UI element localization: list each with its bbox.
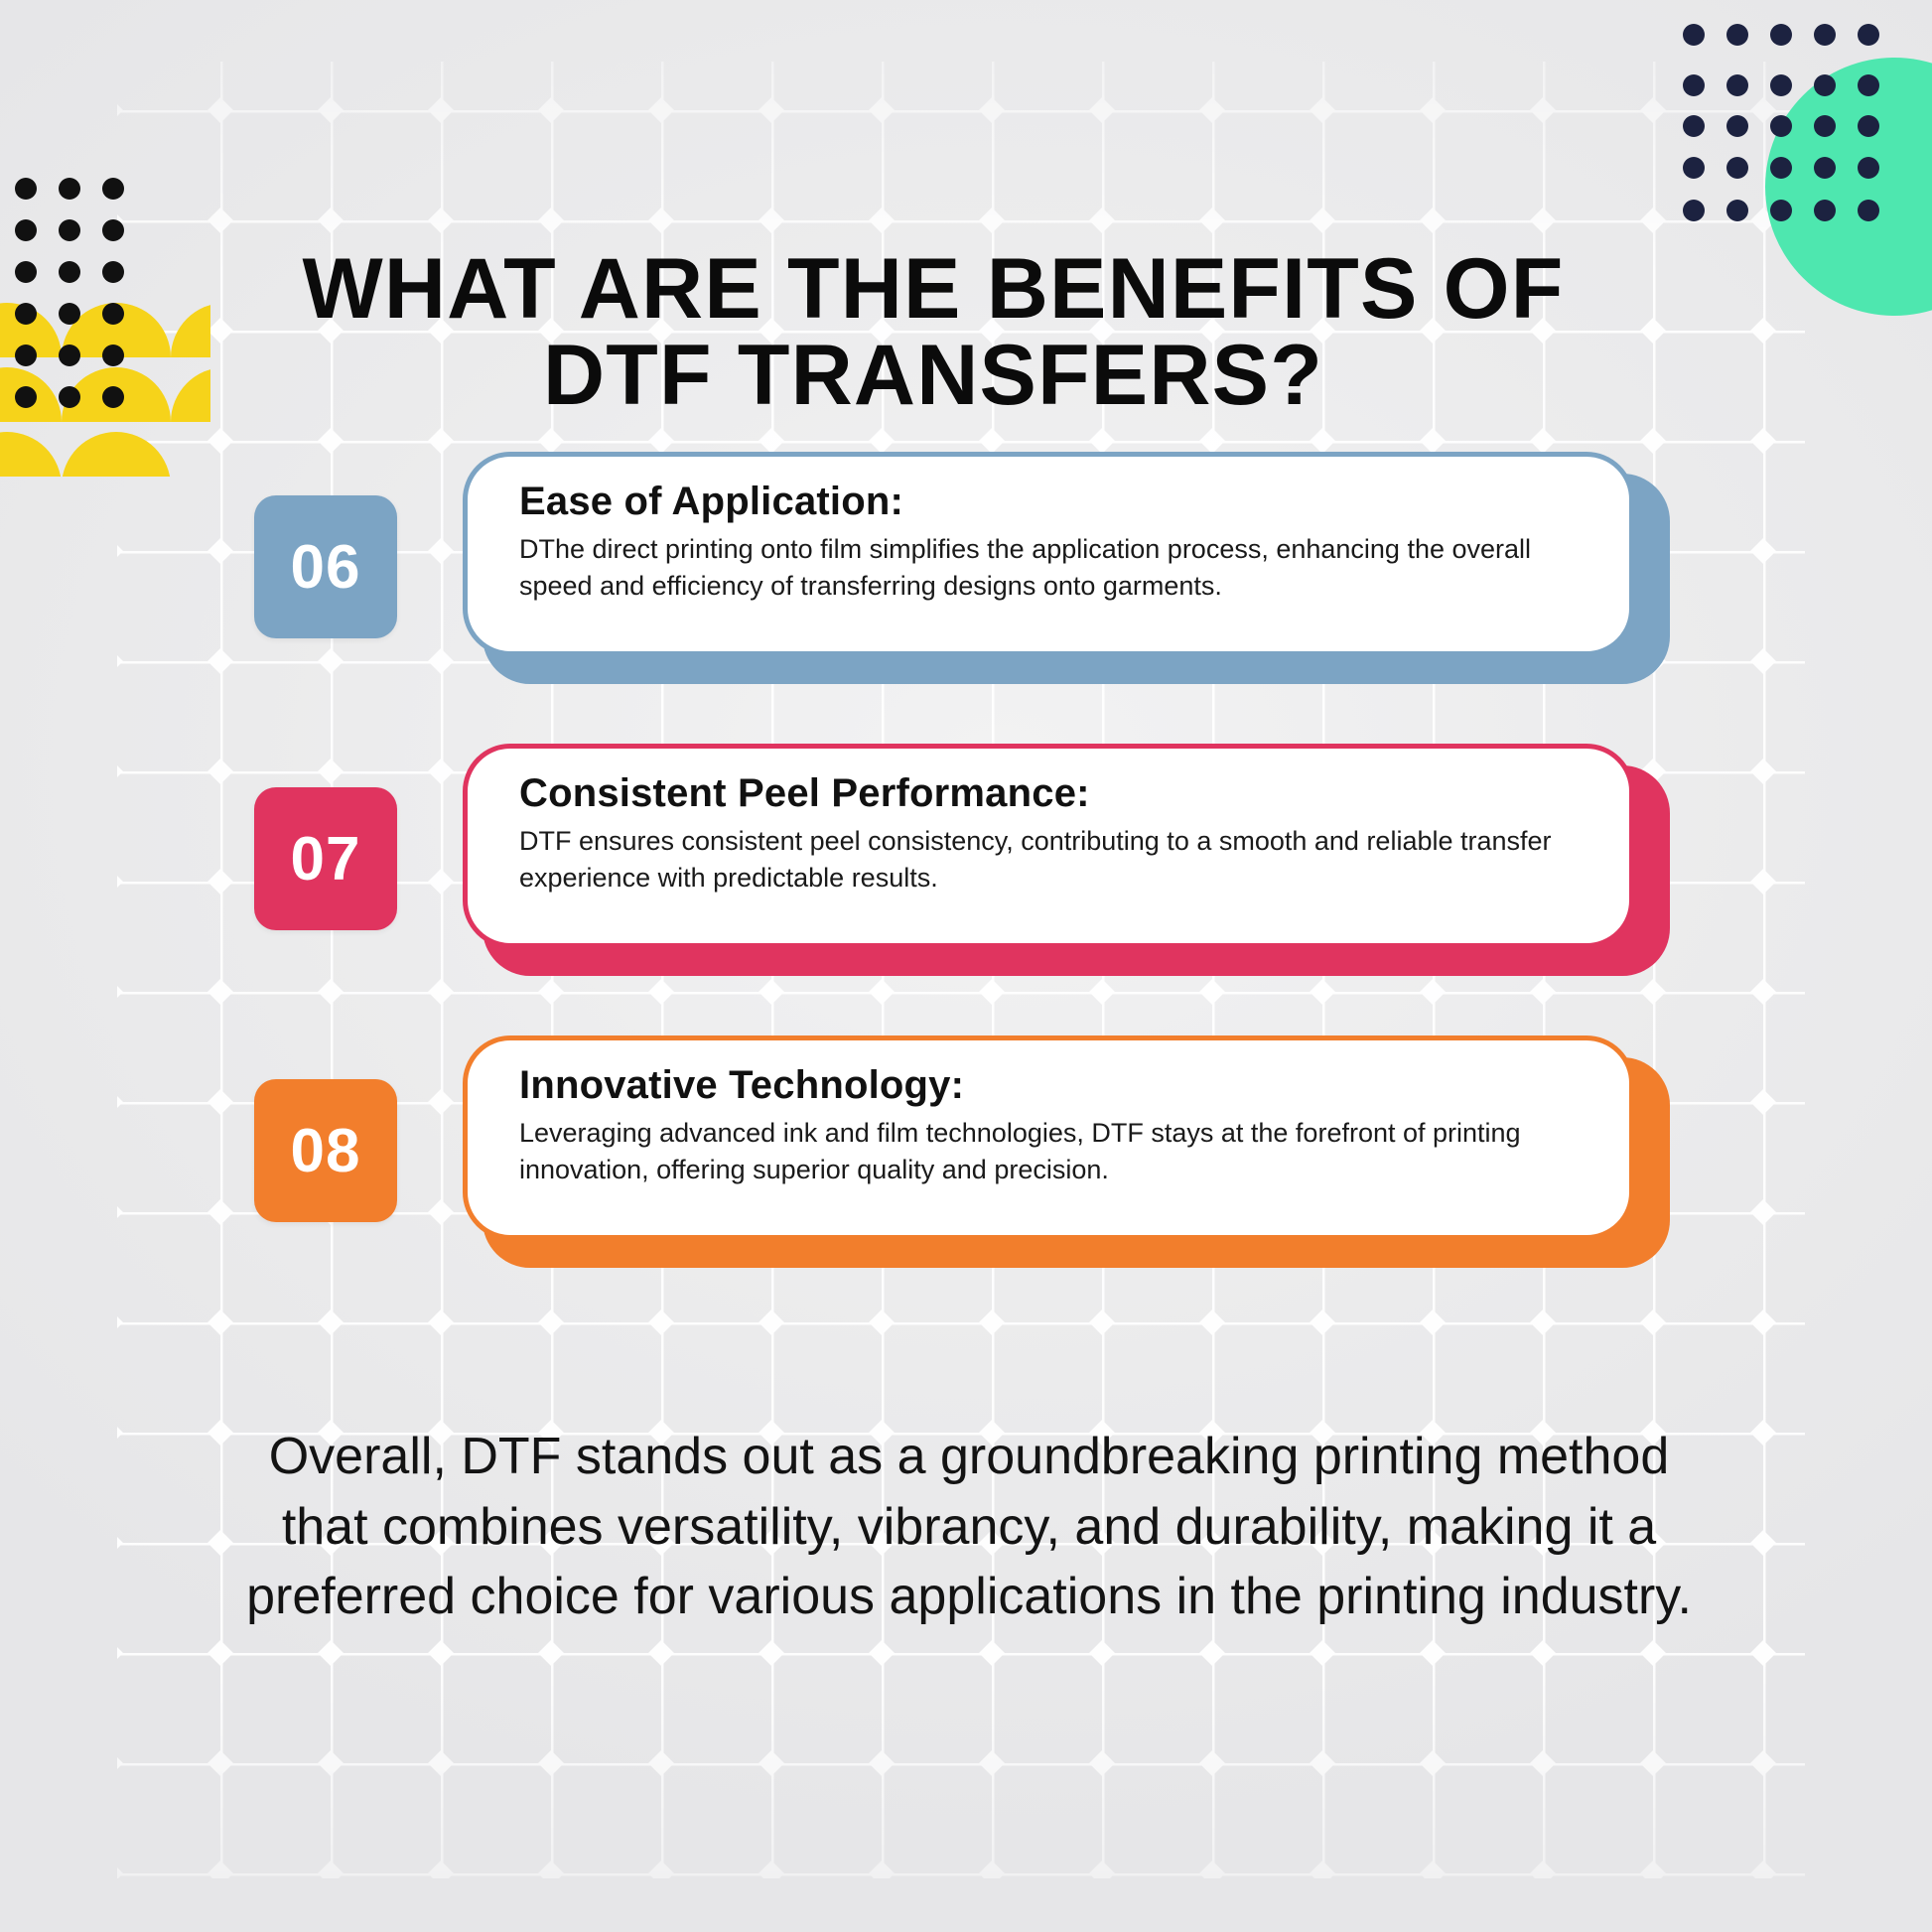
card-title-06: Ease of Application:: [519, 479, 1586, 525]
benefit-card-08[interactable]: Innovative Technology: Leveraging advanc…: [463, 1035, 1634, 1240]
benefit-card-06[interactable]: Ease of Application: DThe direct printin…: [463, 452, 1634, 656]
benefit-card-list: Ease of Application: DThe direct printin…: [0, 452, 1932, 1327]
card-number-label: 07: [291, 824, 361, 895]
yellow-semicircle-decoration: [0, 298, 210, 477]
card-body-07: DTF ensures consistent peel consistency,…: [519, 823, 1586, 897]
benefit-card-07[interactable]: Consistent Peel Performance: DTF ensures…: [463, 744, 1634, 948]
card-body-06: DThe direct printing onto film simplifie…: [519, 531, 1586, 606]
card-number-badge-06: 06: [254, 495, 397, 638]
card-title-07: Consistent Peel Performance:: [519, 770, 1586, 817]
page-title: WHAT ARE THE BENEFITS OF DTF TRANSFERS?: [228, 246, 1638, 420]
card-number-label: 06: [291, 532, 361, 603]
benefit-card-row: Innovative Technology: Leveraging advanc…: [0, 1035, 1932, 1292]
benefit-card-row: Ease of Application: DThe direct printin…: [0, 452, 1932, 708]
dot-grid-left: [8, 171, 187, 419]
card-number-label: 08: [291, 1116, 361, 1186]
closing-paragraph: Overall, DTF stands out as a groundbreak…: [244, 1422, 1694, 1632]
card-title-08: Innovative Technology:: [519, 1062, 1586, 1109]
card-number-badge-08: 08: [254, 1079, 397, 1222]
benefit-card-row: Consistent Peel Performance: DTF ensures…: [0, 744, 1932, 1000]
mint-circle-decoration: [1765, 58, 1932, 316]
card-number-badge-07: 07: [254, 787, 397, 930]
infographic-poster: WHAT ARE THE BENEFITS OF DTF TRANSFERS? …: [0, 0, 1932, 1932]
card-body-08: Leveraging advanced ink and film technol…: [519, 1115, 1586, 1189]
